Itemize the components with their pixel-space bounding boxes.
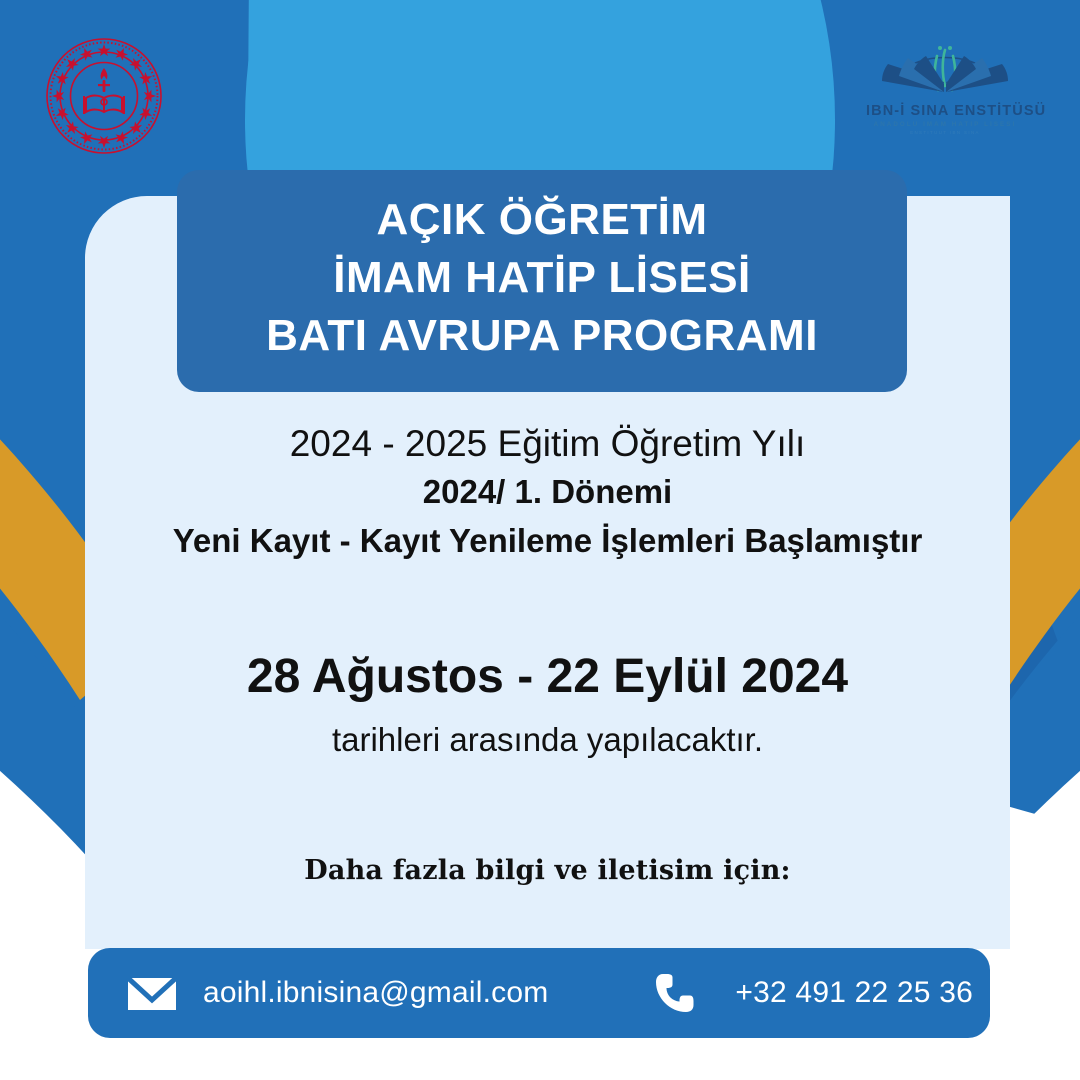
open-book-fan-icon bbox=[870, 40, 1020, 102]
registration-status-line: Yeni Kayıt - Kayıt Yenileme İşlemleri Ba… bbox=[85, 517, 1010, 565]
contact-email[interactable]: aoihl.ibnisina@gmail.com bbox=[126, 973, 548, 1013]
ministry-logo bbox=[44, 36, 164, 156]
title-line-2: İMAM HATİP LİSESİ bbox=[333, 249, 751, 307]
contact-phone-text: +32 491 22 25 36 bbox=[735, 976, 973, 1010]
school-logo: IBN-İ SINA ENSTİTÜSÜ ANADOLU İMAM HATİP … bbox=[866, 40, 1024, 140]
envelope-icon bbox=[126, 973, 178, 1013]
announcement-body: 2024 - 2025 Eğitim Öğretim Yılı 2024/ 1.… bbox=[85, 420, 1010, 565]
date-block: 28 Ağustos - 22 Eylül 2024 tarihleri ara… bbox=[85, 648, 1010, 759]
poster-root: IBN-İ SINA ENSTİTÜSÜ ANADOLU İMAM HATİP … bbox=[0, 0, 1080, 1080]
school-logo-subtitle-secondary: ENSTITUUT IBN SINA bbox=[866, 130, 1024, 135]
contact-bar: aoihl.ibnisina@gmail.com +32 491 22 25 3… bbox=[88, 948, 990, 1038]
meb-seal-icon bbox=[44, 36, 164, 156]
term-line: 2024/ 1. Dönemi bbox=[85, 467, 1010, 517]
school-logo-title: IBN-İ SINA ENSTİTÜSÜ bbox=[866, 103, 1024, 119]
date-note: tarihleri arasında yapılacaktır. bbox=[85, 720, 1010, 760]
title-line-1: AÇIK ÖĞRETİM bbox=[376, 191, 707, 249]
contact-email-text: aoihl.ibnisina@gmail.com bbox=[203, 976, 548, 1010]
school-logo-subtitle: ANADOLU İMAM HATİP LİSESİ bbox=[866, 121, 1024, 128]
title-line-3: BATI AVRUPA PROGRAMI bbox=[266, 307, 818, 365]
contact-lead-text: Daha fazla bilgi ve iletisim için: bbox=[85, 855, 1010, 886]
phone-icon bbox=[653, 971, 697, 1015]
date-range: 28 Ağustos - 22 Eylül 2024 bbox=[85, 648, 1010, 706]
contact-phone[interactable]: +32 491 22 25 36 bbox=[653, 971, 973, 1015]
academic-year-line: 2024 - 2025 Eğitim Öğretim Yılı bbox=[85, 420, 1010, 467]
title-plate: AÇIK ÖĞRETİM İMAM HATİP LİSESİ BATI AVRU… bbox=[177, 170, 907, 392]
